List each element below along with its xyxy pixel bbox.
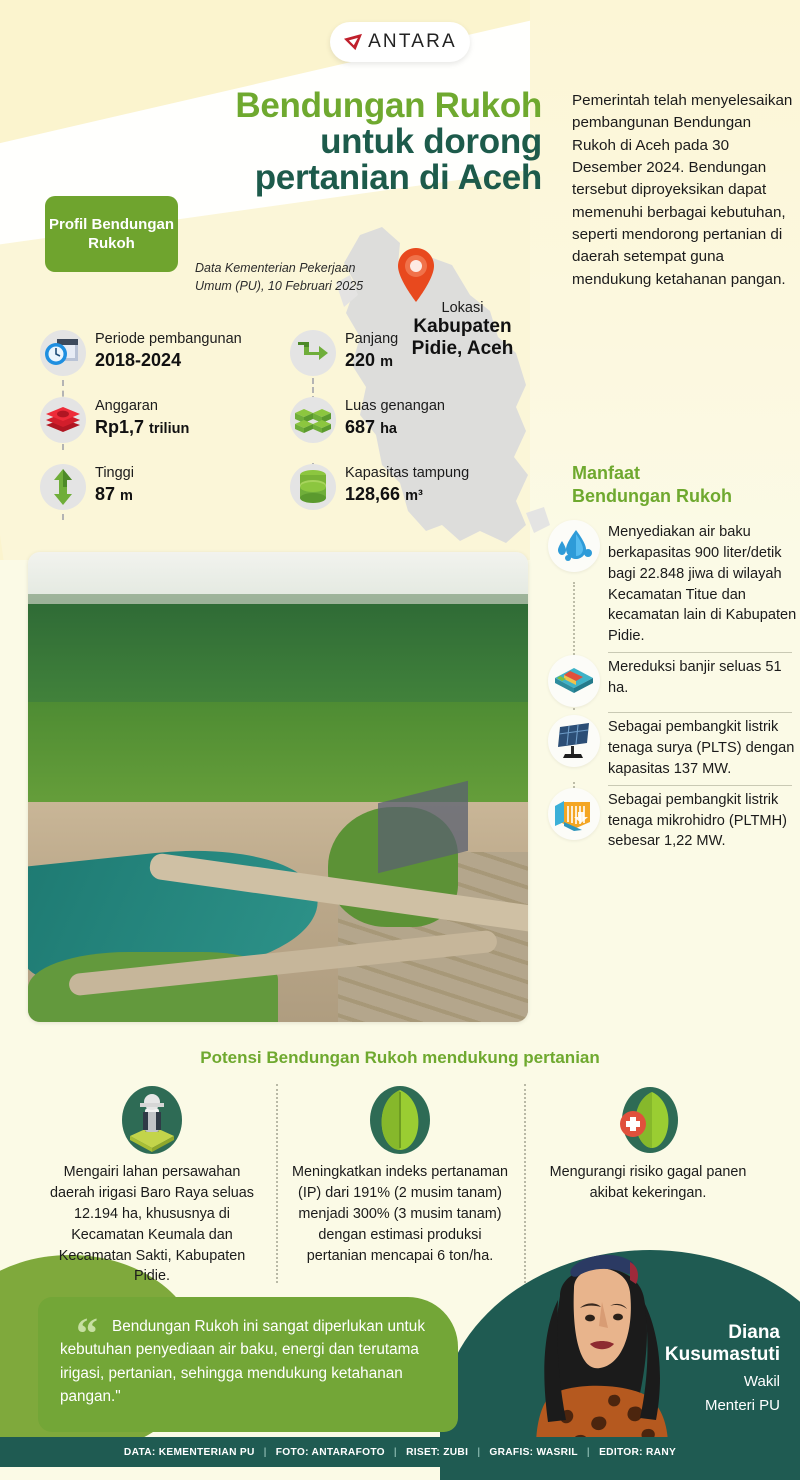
benefit-text: Sebagai pembangkit listrik tenaga mikroh…: [608, 788, 800, 853]
credit-editor: EDITOR: RANY: [599, 1447, 676, 1458]
benefits-title: Manfaat Bendungan Rukoh: [572, 462, 792, 507]
title-line-2: untuk dorong: [180, 124, 542, 160]
bendungan-rukoh-aerial-photo: [28, 552, 528, 1022]
source-note: Data Kementerian Pekerjaan Umum (PU), 10…: [195, 260, 365, 296]
credit-data: DATA: KEMENTERIAN PU: [124, 1447, 255, 1458]
map-pin-icon: [396, 247, 436, 303]
antara-logo-text: ANTARA: [368, 31, 457, 53]
quote-mark-icon: “: [76, 1319, 98, 1350]
benefits-title-line-2: Bendungan Rukoh: [572, 485, 792, 508]
stat-value: 87: [95, 484, 115, 504]
potensi-item: Mengairi lahan persawahan daerah irigasi…: [28, 1078, 276, 1287]
stat-text: Luas genangan 687 ha: [345, 397, 445, 440]
stat-label: Periode pembangunan: [95, 331, 242, 348]
stat-unit: triliun: [149, 421, 189, 437]
list-item: Sebagai pembangkit listrik tenaga mikroh…: [548, 788, 800, 861]
speaker-name-line-2: Kusumastuti: [640, 1344, 780, 1366]
capacity-cylinder-icon: [290, 464, 336, 510]
stat-value: 2018-2024: [95, 350, 181, 370]
stat-value: 128,66: [345, 484, 400, 504]
credit-separator: |: [587, 1447, 590, 1458]
stat-item: Anggaran Rp1,7 triliun: [40, 397, 280, 443]
flood-control-icon: [548, 655, 600, 707]
title-line-3: pertanian di Aceh: [180, 160, 542, 196]
stat-label: Tinggi: [95, 465, 134, 482]
stat-label: Luas genangan: [345, 398, 445, 415]
stat-item: Periode pembangunan 2018-2024: [40, 330, 280, 376]
speaker-role-line-2: Menteri PU: [640, 1396, 780, 1416]
potensi-text: Mengairi lahan persawahan daerah irigasi…: [40, 1162, 264, 1287]
footer-credits: DATA: KEMENTERIAN PU | FOTO: ANTARAFOTO …: [0, 1437, 800, 1467]
rice-grain-icon: [288, 1078, 512, 1162]
location-value-line-2: Pidie, Aceh: [380, 338, 545, 360]
list-item: Mereduksi banjir seluas 51 ha.: [548, 655, 800, 715]
stat-label: Anggaran: [95, 398, 189, 415]
credit-riset: RISET: ZUBI: [406, 1447, 468, 1458]
stat-text: Tinggi 87 m: [95, 464, 134, 507]
credit-separator: |: [394, 1447, 397, 1458]
speaker-info: Diana Kusumastuti Wakil Menteri PU: [640, 1322, 780, 1416]
credit-grafis: GRAFIS: WASRIL: [489, 1447, 578, 1458]
stat-unit: m: [120, 488, 133, 504]
location-label: Lokasi: [380, 300, 545, 316]
intro-paragraph: Pemerintah telah menyelesaikan pembangun…: [572, 90, 797, 291]
solar-panel-icon: [548, 715, 600, 767]
crop-failure-icon: [536, 1078, 760, 1162]
height-arrow-icon: [40, 464, 86, 510]
credit-separator: |: [264, 1447, 267, 1458]
hydro-power-icon: [548, 788, 600, 840]
antara-logo[interactable]: ANTARA: [330, 22, 470, 62]
speaker-name-line-1: Diana: [640, 1322, 780, 1344]
potensi-item: Meningkatkan indeks pertanaman (IP) dari…: [276, 1078, 524, 1287]
benefit-text: Menyediakan air baku berkapasitas 900 li…: [608, 520, 800, 647]
list-item: Sebagai pembangkit listrik tenaga surya …: [548, 715, 800, 788]
money-stack-icon: [40, 397, 86, 443]
potensi-text: Meningkatkan indeks pertanaman (IP) dari…: [288, 1162, 512, 1266]
potensi-text: Mengurangi risiko gagal panen akibat kek…: [536, 1162, 760, 1204]
title-line-1: Bendungan Rukoh: [180, 88, 542, 124]
stat-value: Rp1,7: [95, 417, 144, 437]
length-arrow-icon: [290, 330, 336, 376]
stat-unit: ha: [380, 421, 397, 437]
stat-item: Tinggi 87 m: [40, 464, 280, 510]
page-title: Bendungan Rukoh untuk dorong pertanian d…: [180, 88, 542, 196]
stat-value: 687: [345, 417, 375, 437]
quote-box: “ Bendungan Rukoh ini sangat diperlukan …: [38, 1297, 458, 1432]
calendar-clock-icon: [40, 330, 86, 376]
benefit-text: Mereduksi banjir seluas 51 ha.: [608, 655, 800, 707]
antara-arrow-logo-icon: [343, 33, 363, 51]
stat-item: Luas genangan 687 ha: [290, 397, 540, 443]
quote-text: Bendungan Rukoh ini sangat diperlukan un…: [60, 1315, 438, 1408]
area-blocks-icon: [290, 397, 336, 443]
stat-item: Kapasitas tampung 128,66 m³: [290, 464, 540, 510]
stats-column-left: Periode pembangunan 2018-2024 Anggaran R…: [40, 330, 280, 510]
water-drop-icon: [548, 520, 600, 572]
stat-value: 220: [345, 350, 375, 370]
benefit-text: Sebagai pembangkit listrik tenaga surya …: [608, 715, 800, 780]
stat-label: Kapasitas tampung: [345, 465, 469, 482]
farmer-field-icon: [40, 1078, 264, 1162]
location-value-line-1: Kabupaten: [380, 316, 545, 338]
benefits-title-line-1: Manfaat: [572, 462, 792, 485]
location-block: Lokasi Kabupaten Pidie, Aceh: [380, 300, 545, 361]
stat-unit: m³: [405, 488, 423, 504]
stat-text: Periode pembangunan 2018-2024: [95, 330, 242, 373]
potensi-title: Potensi Bendungan Rukoh mendukung pertan…: [0, 1048, 800, 1068]
stat-text: Anggaran Rp1,7 triliun: [95, 397, 189, 440]
profile-card-title: Profil Bendungan Rukoh: [45, 196, 178, 272]
speaker-role-line-1: Wakil: [640, 1372, 780, 1392]
list-item: Menyediakan air baku berkapasitas 900 li…: [548, 520, 800, 655]
stat-text: Kapasitas tampung 128,66 m³: [345, 464, 469, 507]
credit-separator: |: [477, 1447, 480, 1458]
credit-foto: FOTO: ANTARAFOTO: [276, 1447, 385, 1458]
benefits-list: Menyediakan air baku berkapasitas 900 li…: [548, 520, 800, 860]
